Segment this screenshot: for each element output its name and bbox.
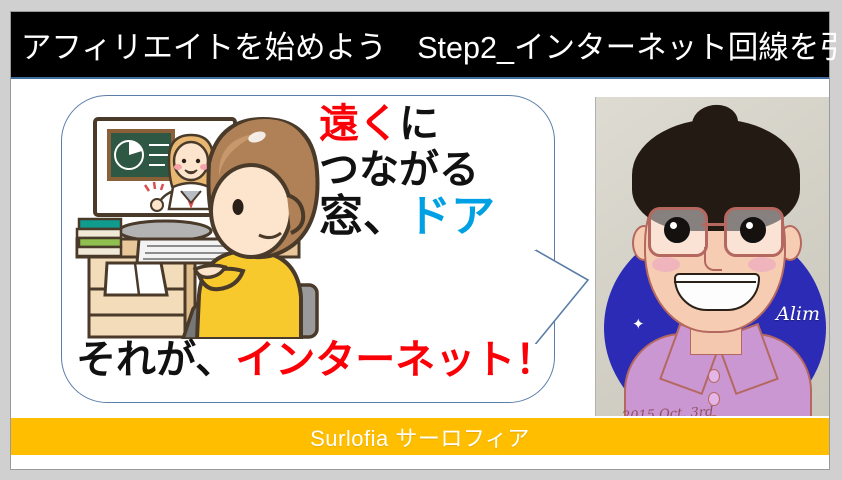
copy-line-3-cyan: ドア: [407, 192, 495, 241]
photo-eye-left: [664, 217, 690, 243]
tagline-red: インターネット！: [235, 338, 555, 382]
page-title: アフィリエイトを始めよう Step2_インターネット回線を引こう: [11, 22, 842, 67]
footer-bar: Surlofia サーロフィア: [11, 418, 829, 455]
copy-line-3: 窓、ドア: [319, 194, 557, 241]
copy-line-1: 遠くに: [319, 103, 557, 145]
copy-line-1-black: に: [399, 102, 439, 146]
photo-eye-right: [740, 217, 766, 243]
photo-nose: [704, 247, 722, 271]
copy-line-3-black: 窓、: [319, 192, 407, 241]
tagline-black: それが、: [76, 338, 235, 382]
slide-frame: アフィリエイトを始めよう Step2_インターネット回線を引こう: [10, 11, 830, 470]
slide-body: 遠くに つながる 窓、ドア それが、インターネット！: [11, 81, 829, 416]
copy-line-2-black: つながる: [319, 148, 479, 192]
photo-signature: Alim: [776, 303, 820, 325]
photo-blush-right: [748, 257, 776, 272]
bubble-tagline: それが、インターネット！: [76, 327, 546, 385]
copy-line-1-red: 遠く: [319, 102, 399, 146]
slide-stage: アフィリエイトを始めよう Step2_インターネット回線を引こう: [0, 0, 842, 480]
photo-blush-left: [652, 257, 680, 272]
copy-line-2: つながる: [319, 149, 557, 191]
bubble-copy: 遠くに つながる 窓、ドア: [319, 103, 557, 240]
photo-upper-lip: [674, 271, 756, 283]
photo-glasses-bridge: [702, 223, 724, 226]
desk-study-illustration: [73, 99, 338, 339]
slide-title-bar: アフィリエイトを始めよう Step2_インターネット回線を引こう: [11, 12, 829, 79]
footer-label: Surlofia サーロフィア: [310, 421, 530, 453]
caricature-photo: ✦ Alim 2015.Oct. 3rd: [595, 97, 829, 416]
photo-star-icon: ✦: [632, 315, 645, 333]
